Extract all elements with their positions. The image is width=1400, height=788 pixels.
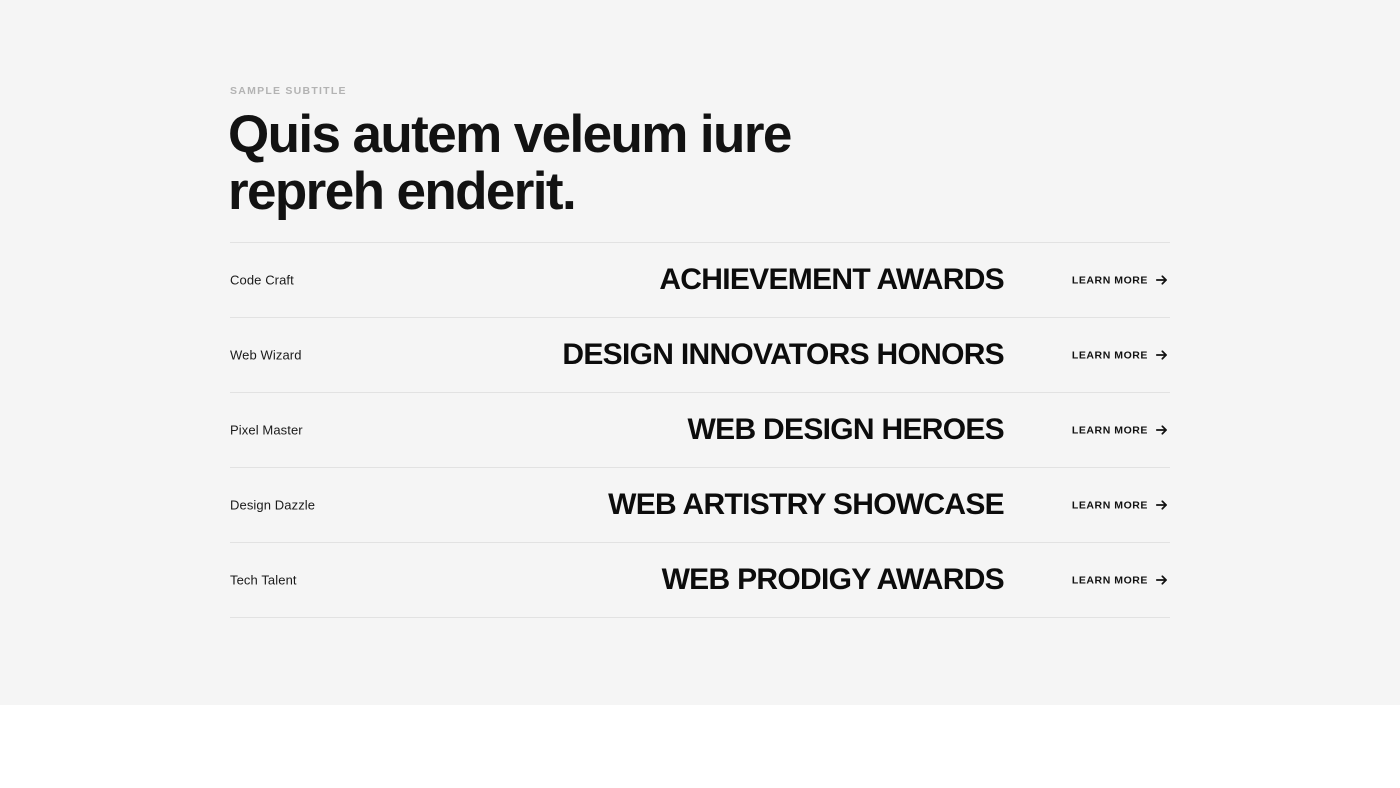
row-divider — [230, 617, 1170, 618]
table-row[interactable]: Pixel Master WEB DESIGN HEROES LEARN MOR… — [230, 393, 1170, 467]
page-title: Quis autem veleum iure repreh enderit. — [228, 107, 868, 220]
arrow-right-icon — [1155, 424, 1168, 437]
section-eyebrow: SAMPLE SUBTITLE — [230, 85, 347, 98]
table-row[interactable]: Design Dazzle WEB ARTISTRY SHOWCASE LEAR… — [230, 468, 1170, 542]
learn-more-label: LEARN MORE — [1072, 574, 1148, 586]
learn-more-label: LEARN MORE — [1072, 349, 1148, 361]
row-label: Design Dazzle — [230, 498, 315, 513]
awards-list: Code Craft ACHIEVEMENT AWARDS LEARN MORE… — [230, 242, 1170, 618]
page-root: SAMPLE SUBTITLE Quis autem veleum iure r… — [0, 0, 1400, 788]
learn-more-link[interactable]: LEARN MORE — [1072, 349, 1168, 362]
row-title: WEB DESIGN HEROES — [688, 413, 1004, 447]
learn-more-label: LEARN MORE — [1072, 424, 1148, 436]
arrow-right-icon — [1155, 274, 1168, 287]
learn-more-link[interactable]: LEARN MORE — [1072, 274, 1168, 287]
arrow-right-icon — [1155, 574, 1168, 587]
row-label: Pixel Master — [230, 423, 303, 438]
table-row[interactable]: Code Craft ACHIEVEMENT AWARDS LEARN MORE — [230, 243, 1170, 317]
table-row[interactable]: Tech Talent WEB PRODIGY AWARDS LEARN MOR… — [230, 543, 1170, 617]
learn-more-label: LEARN MORE — [1072, 499, 1148, 511]
row-label: Web Wizard — [230, 348, 302, 363]
learn-more-link[interactable]: LEARN MORE — [1072, 574, 1168, 587]
row-title: WEB ARTISTRY SHOWCASE — [608, 488, 1004, 522]
learn-more-label: LEARN MORE — [1072, 274, 1148, 286]
learn-more-link[interactable]: LEARN MORE — [1072, 424, 1168, 437]
arrow-right-icon — [1155, 349, 1168, 362]
below-fold-area — [0, 705, 1400, 788]
arrow-right-icon — [1155, 499, 1168, 512]
row-title: DESIGN INNOVATORS HONORS — [562, 338, 1004, 372]
table-row[interactable]: Web Wizard DESIGN INNOVATORS HONORS LEAR… — [230, 318, 1170, 392]
row-label: Tech Talent — [230, 573, 297, 588]
row-title: ACHIEVEMENT AWARDS — [659, 263, 1004, 297]
learn-more-link[interactable]: LEARN MORE — [1072, 499, 1168, 512]
awards-section: SAMPLE SUBTITLE Quis autem veleum iure r… — [0, 0, 1400, 705]
row-title: WEB PRODIGY AWARDS — [662, 563, 1004, 597]
row-label: Code Craft — [230, 273, 294, 288]
